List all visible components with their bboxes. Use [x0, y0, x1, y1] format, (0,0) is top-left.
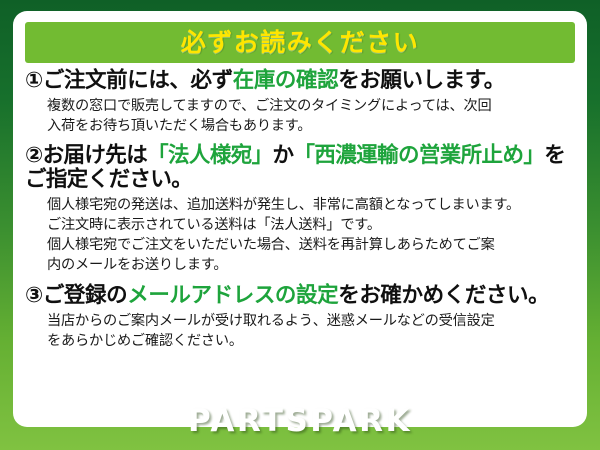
notice-title-bar: 必ずお読みください	[25, 22, 575, 63]
item-2-body: 個人様宅宛の発送は、追加送料が発生し、非常に高額となってしまいます。 ご注文時に…	[25, 195, 577, 276]
item-2-heading-part-1: お届け先は	[43, 143, 148, 168]
notice-item-1: ①ご注文前には、必ず在庫の確認をお願いします。 複数の窓口で販売してますので、ご…	[25, 69, 577, 136]
item-1-marker: ①	[25, 68, 43, 93]
item-3-marker: ③	[25, 283, 43, 308]
notice-content: ①ご注文前には、必ず在庫の確認をお願いします。 複数の窓口で販売してますので、ご…	[13, 67, 587, 353]
item-2-heading-highlight-1: 「法人様宛」	[147, 143, 272, 168]
brand-name: PARTSPARK	[188, 406, 412, 437]
item-1-heading-part-1: ご注文前には、必ず	[43, 68, 233, 93]
notice-title: 必ずお読みください	[181, 30, 420, 55]
notice-item-3: ③ご登録のメールアドレスの設定をお確かめください。 当店からのご案内メールが受け…	[25, 284, 577, 351]
item-3-heading-part-3: をお確かめください。	[338, 283, 549, 308]
item-2-heading-highlight-2: 「西濃運輸の営業所止め」	[293, 143, 544, 168]
item-2-marker: ②	[25, 143, 43, 168]
item-3-body: 当店からのご案内メールが受け取れるよう、迷惑メールなどの受信設定 をあらかじめご…	[25, 311, 577, 351]
item-2-heading: ②お届け先は「法人様宛」か「西濃運輸の営業所止め」をご指定ください。	[25, 144, 577, 193]
item-3-heading-highlight: メールアドレスの設定	[127, 283, 338, 308]
notice-panel: 必ずお読みください ①ご注文前には、必ず在庫の確認をお願いします。 複数の窓口で…	[13, 11, 587, 427]
item-1-heading-part-3: をお願いします。	[338, 68, 505, 93]
item-1-heading: ①ご注文前には、必ず在庫の確認をお願いします。	[25, 69, 577, 94]
item-1-body: 複数の窓口で販売してますので、ご注文のタイミングによっては、次回 入荷をお待ち頂…	[25, 96, 577, 136]
item-3-heading-part-1: ご登録の	[43, 283, 127, 308]
notice-item-2: ②お届け先は「法人様宛」か「西濃運輸の営業所止め」をご指定ください。 個人様宅宛…	[25, 144, 577, 276]
item-3-heading: ③ご登録のメールアドレスの設定をお確かめください。	[25, 284, 577, 309]
item-1-heading-highlight: 在庫の確認	[233, 68, 339, 93]
item-2-heading-part-3: か	[273, 143, 294, 168]
notice-banner: 必ずお読みください ①ご注文前には、必ず在庫の確認をお願いします。 複数の窓口で…	[0, 0, 600, 450]
brand-footer: PARTSPARK	[0, 392, 600, 450]
